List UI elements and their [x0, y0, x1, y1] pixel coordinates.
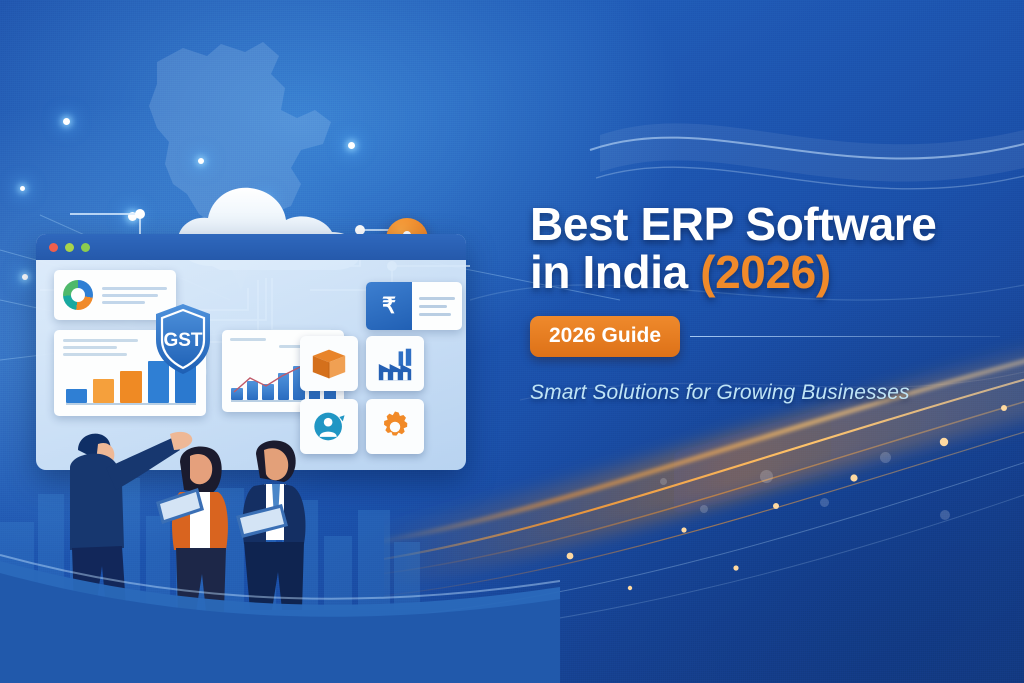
gst-shield-icon: GST: [152, 302, 214, 376]
module-tile-manufacturing[interactable]: [366, 336, 424, 391]
invoice-text-lines: [412, 282, 462, 330]
bokeh-particle: [700, 505, 708, 513]
badge-divider: [690, 336, 1000, 337]
module-tile-inventory[interactable]: [300, 336, 358, 391]
invoice-card: ₹: [366, 282, 462, 330]
headline-year: (2026): [700, 246, 831, 298]
factory-icon: [375, 346, 415, 382]
erp-hero-banner: ₹ GST: [0, 0, 1024, 683]
headline-line-2: in India (2026): [530, 248, 1000, 296]
card-text-lines: [102, 287, 167, 304]
bokeh-particle: [660, 478, 667, 485]
page-title: Best ERP Software in India (2026): [530, 200, 1000, 296]
window-title-bar: [36, 234, 466, 260]
package-box-icon: [309, 346, 349, 382]
rupee-icon: ₹: [366, 282, 412, 330]
bokeh-particle: [760, 470, 773, 483]
window-minimize-dot[interactable]: [65, 243, 74, 252]
window-maximize-dot[interactable]: [81, 243, 90, 252]
bottom-wave-separator: [0, 503, 560, 683]
status-badge: 2026 Guide: [530, 316, 680, 357]
headline-block: Best ERP Software in India (2026) 2026 G…: [530, 200, 1000, 405]
headline-line-1: Best ERP Software: [530, 200, 1000, 248]
window-close-dot[interactable]: [49, 243, 58, 252]
bokeh-particle: [820, 498, 829, 507]
bokeh-particle: [940, 510, 950, 520]
bokeh-particle: [880, 452, 891, 463]
headline-main-text: in India: [530, 246, 688, 298]
donut-chart: [63, 280, 93, 310]
guide-badge-row: 2026 Guide: [530, 316, 1000, 357]
tagline: Smart Solutions for Growing Businesses: [530, 381, 1000, 405]
gst-shield-label: GST: [163, 330, 202, 351]
erp-illustration: ₹ GST: [0, 0, 500, 683]
